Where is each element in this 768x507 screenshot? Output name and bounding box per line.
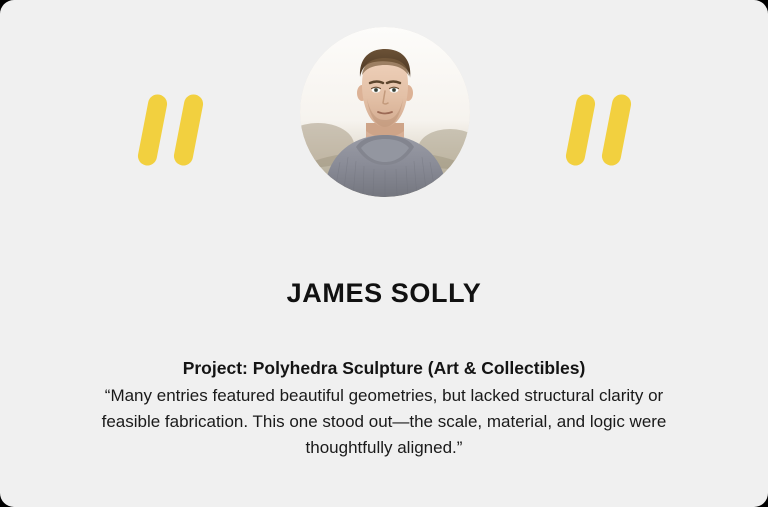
testimonial-card: JAMES SOLLY Project: Polyhedra Sculpture…: [0, 0, 768, 507]
person-name: JAMES SOLLY: [0, 278, 768, 308]
avatar: [300, 27, 470, 197]
quote-mark-icon-right: [571, 94, 626, 166]
quote-bar: [136, 93, 168, 167]
quote-bar: [600, 93, 632, 167]
project-line: Project: Polyhedra Sculpture (Art & Coll…: [34, 356, 734, 380]
quote-line: feasible fabrication. This one stood out…: [34, 409, 734, 435]
quote-line: thoughtfully aligned.”: [34, 435, 734, 461]
quote-bar: [172, 93, 204, 167]
quote-line: “Many entries featured beautiful geometr…: [34, 383, 734, 409]
quote-text: “Many entries featured beautiful geometr…: [34, 383, 734, 461]
quote-bar: [564, 93, 596, 167]
testimonial-text: Project: Polyhedra Sculpture (Art & Coll…: [34, 356, 734, 461]
quote-mark-icon-left: [143, 94, 198, 166]
